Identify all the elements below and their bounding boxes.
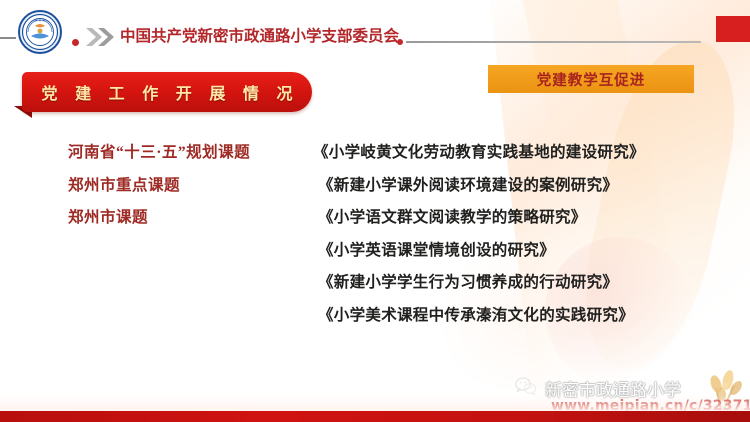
table-row: 河南省“十三·五”规划课题 《小学岐黄文化劳动教育实践基地的建设研究》	[0, 140, 750, 173]
research-projects-table: 河南省“十三·五”规划课题 《小学岐黄文化劳动教育实践基地的建设研究》 郑州市重…	[0, 140, 750, 335]
header-right-rule	[406, 41, 701, 43]
topic-tag-label: 党建教学互促进	[537, 69, 646, 90]
table-row: 《新建小学学生行为习惯养成的行动研究》	[0, 270, 750, 303]
row-project-title: 《新建小学学生行为习惯养成的行动研究》	[318, 270, 618, 292]
double-chevron-right-icon	[84, 27, 116, 47]
row-project-title: 《小学语文群文阅读教学的策略研究》	[318, 205, 587, 227]
section-banner: 党 建 工 作 开 展 情 况	[22, 72, 312, 112]
row-project-title: 《小学美术课程中传承溱洧文化的实践研究》	[318, 303, 634, 325]
header-bullet-dot-right	[397, 39, 403, 45]
svg-text:★ ★ ★: ★ ★ ★	[35, 19, 45, 23]
slide-header: ★ ★ ★ ····· 中国共产党新密市政通路小学支部委员会	[0, 0, 750, 62]
row-project-title: 《小学岐黄文化劳动教育实践基地的建设研究》	[313, 140, 645, 162]
footer-red-bar	[0, 411, 750, 422]
row-category-label: 郑州市课题	[68, 205, 148, 227]
table-row: 《小学美术课程中传承溱洧文化的实践研究》	[0, 303, 750, 336]
topic-tag: 党建教学互促进	[488, 65, 694, 93]
svg-text:·····: ·····	[38, 43, 43, 47]
slide-canvas: ★ ★ ★ ····· 中国共产党新密市政通路小学支部委员会 党 建 工 作 开…	[0, 0, 750, 422]
table-row: 《小学英语课堂情境创设的研究》	[0, 238, 750, 271]
header-red-block-decoration	[716, 16, 750, 42]
section-banner-title: 党 建 工 作 开 展 情 况	[22, 72, 312, 112]
row-project-title: 《小学英语课堂情境创设的研究》	[318, 238, 555, 260]
footer-fade-decoration	[0, 395, 750, 411]
row-category-label: 河南省“十三·五”规划课题	[68, 140, 250, 162]
table-row: 郑州市课题 《小学语文群文阅读教学的策略研究》	[0, 205, 750, 238]
row-category-label: 郑州市重点课题	[68, 173, 180, 195]
organization-title: 中国共产党新密市政通路小学支部委员会	[120, 24, 399, 46]
school-emblem-icon: ★ ★ ★ ·····	[18, 10, 62, 54]
row-project-title: 《新建小学课外阅读环境建设的案例研究》	[318, 173, 618, 195]
table-row: 郑州市重点课题 《新建小学课外阅读环境建设的案例研究》	[0, 173, 750, 206]
header-left-rule	[0, 37, 16, 39]
header-bullet-dot-left	[72, 39, 79, 46]
